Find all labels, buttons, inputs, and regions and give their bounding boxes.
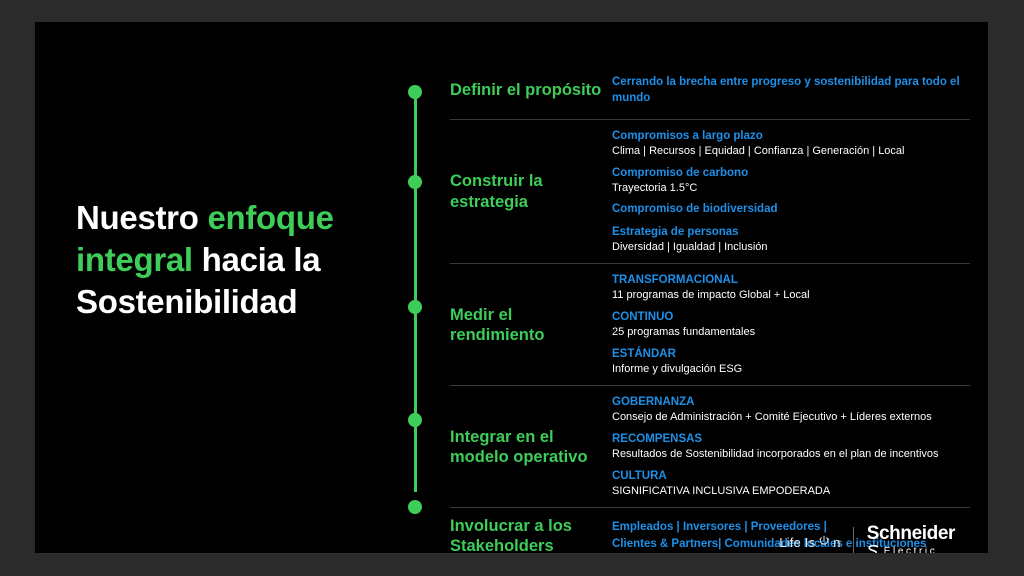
row-item: CONTINUO 25 programas fundamentales: [612, 310, 970, 340]
row-body: Cerrando la brecha entre progreso y sost…: [612, 66, 970, 114]
item-subtitle: Clima | Recursos | Equidad | Confianza |…: [612, 144, 970, 159]
timeline-row-medir-el-rendimiento: Medir el rendimiento TRANSFORMACIONAL 11…: [450, 263, 970, 385]
item-subtitle: Resultados de Sostenibilidad incorporado…: [612, 447, 970, 462]
timeline-row-definir-el-proposito: Definir el propósito Cerrando la brecha …: [450, 62, 970, 119]
row-item: GOBERNANZA Consejo de Administración + C…: [612, 395, 970, 425]
item-subtitle: Trayectoria 1.5°C: [612, 181, 970, 196]
timeline-dot-4: [408, 413, 422, 427]
electric-wordmark: Electric: [884, 547, 938, 553]
item-title: RECOMPENSAS: [612, 432, 970, 447]
item-subtitle: SIGNIFICATIVA INCLUSIVA EMPODERADA: [612, 484, 970, 499]
life-is-on-tagline: Life Is n: [779, 535, 853, 550]
power-symbol-icon: [818, 535, 830, 550]
row-body: GOBERNANZA Consejo de Administración + C…: [612, 386, 970, 507]
page-number: Page 4: [260, 552, 287, 553]
row-item: RECOMPENSAS Resultados de Sostenibilidad…: [612, 432, 970, 462]
tagline-text-after: n: [833, 535, 840, 550]
footer-separator: |: [256, 552, 258, 553]
item-subtitle: Informe y divulgación ESG: [612, 362, 970, 377]
row-item: TRANSFORMACIONAL 11 programas de impacto…: [612, 273, 970, 303]
title-plain-word: Nuestro: [76, 199, 207, 236]
title-block: Nuestro enfoque integral hacia la Sosten…: [76, 197, 396, 324]
item-title: Cerrando la brecha entre progreso y sost…: [612, 75, 970, 105]
schneider-electric-logo: Schneider Electric: [854, 524, 955, 553]
item-subtitle: 11 programas de impacto Global + Local: [612, 288, 970, 303]
timeline-dot-1: [408, 85, 422, 99]
item-title: Compromiso de carbono: [612, 166, 970, 181]
schneider-electric-line: Electric: [867, 544, 955, 553]
row-item: Compromiso de biodiversidad: [612, 202, 970, 217]
item-title: ESTÁNDAR: [612, 347, 970, 362]
item-title: CONTINUO: [612, 310, 970, 325]
timeline-rows: Definir el propósito Cerrando la brecha …: [450, 62, 970, 553]
copyright-text: © 2022 Schneider Electric, All Rights Re…: [76, 552, 253, 553]
timeline-row-integrar-en-el-modelo-operativo: Integrar en el modelo operativo GOBERNAN…: [450, 385, 970, 507]
presentation-slide: Nuestro enfoque integral hacia la Sosten…: [35, 22, 988, 553]
row-item: Compromiso de carbono Trayectoria 1.5°C: [612, 166, 970, 196]
row-heading: Definir el propósito: [450, 80, 612, 100]
item-title: GOBERNANZA: [612, 395, 970, 410]
item-subtitle: Consejo de Administración + Comité Ejecu…: [612, 410, 970, 425]
item-title: TRANSFORMACIONAL: [612, 273, 970, 288]
timeline-line: [414, 92, 417, 492]
timeline-dot-2: [408, 175, 422, 189]
row-item: Cerrando la brecha entre progreso y sost…: [612, 75, 970, 105]
row-heading: Involucrar a los Stakeholders: [450, 516, 612, 553]
item-title: CULTURA: [612, 469, 970, 484]
item-subtitle: 25 programas fundamentales: [612, 325, 970, 340]
item-title: Estrategia de personas: [612, 225, 970, 240]
item-subtitle: Diversidad | Igualdad | Inclusión: [612, 240, 970, 255]
row-heading: Construir la estrategia: [450, 171, 612, 211]
row-heading: Medir el rendimiento: [450, 305, 612, 345]
row-item: ESTÁNDAR Informe y divulgación ESG: [612, 347, 970, 377]
row-item: Estrategia de personas Diversidad | Igua…: [612, 225, 970, 255]
brand-lockup: Life Is n Schneider Electric: [779, 525, 955, 553]
title-accent-word: integral: [76, 241, 193, 278]
schneider-s-mark-icon: [867, 544, 880, 553]
tagline-text-before: Life Is: [779, 535, 815, 550]
row-item: Compromisos a largo plazo Clima | Recurs…: [612, 129, 970, 159]
row-heading: Integrar en el modelo operativo: [450, 427, 612, 467]
row-body: Compromisos a largo plazo Clima | Recurs…: [612, 120, 970, 263]
timeline-row-construir-la-estrategia: Construir la estrategia Compromisos a la…: [450, 119, 970, 263]
item-title: Compromiso de biodiversidad: [612, 202, 970, 217]
title-accent-word: enfoque: [207, 199, 333, 236]
timeline-dot-3: [408, 300, 422, 314]
row-item: CULTURA SIGNIFICATIVA INCLUSIVA EMPODERA…: [612, 469, 970, 499]
footer-copyright: © 2022 Schneider Electric, All Rights Re…: [76, 552, 287, 553]
timeline-dot-5: [408, 500, 422, 514]
timeline-rail: [408, 70, 422, 515]
row-body: TRANSFORMACIONAL 11 programas de impacto…: [612, 264, 970, 385]
page-title: Nuestro enfoque integral hacia la Sosten…: [76, 197, 396, 324]
item-title: Compromisos a largo plazo: [612, 129, 970, 144]
schneider-wordmark: Schneider: [867, 524, 955, 543]
